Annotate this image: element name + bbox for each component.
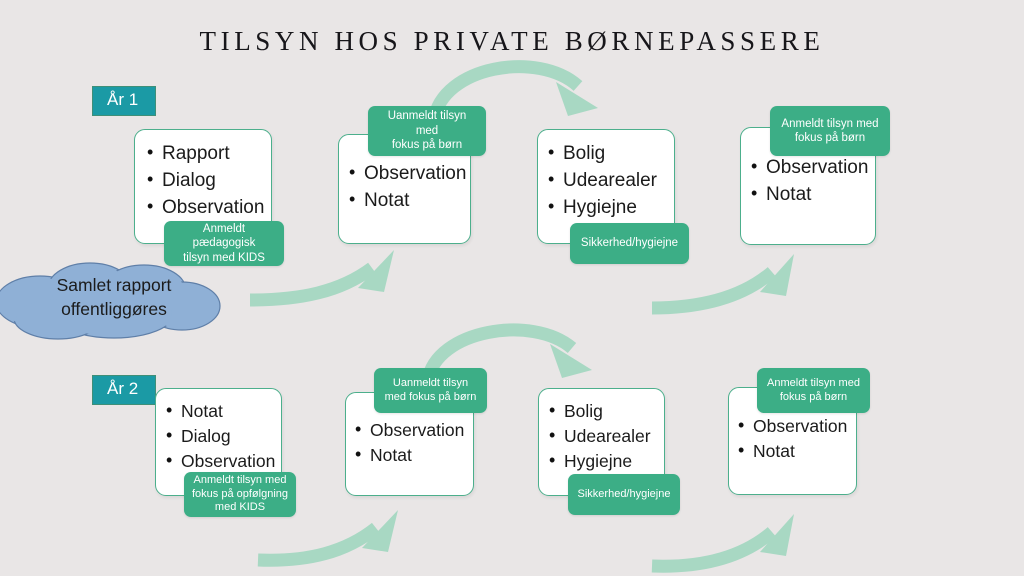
- list-item: Observation: [355, 418, 473, 443]
- list-item: Dialog: [166, 424, 281, 449]
- list-item: Bolig: [549, 399, 664, 424]
- tag-line: Anmeldt tilsyn med: [781, 117, 878, 131]
- arrow-row2-step1-to-step2: [258, 510, 398, 560]
- tag-line: Anmeldt tilsyn med: [767, 377, 860, 391]
- list-item: Bolig: [548, 141, 674, 168]
- list-item: Notat: [349, 188, 470, 215]
- tag-row2-step2: Uanmeldt tilsyn med fokus på børn: [374, 368, 487, 413]
- tag-row1-step2: Uanmeldt tilsyn med fokus på børn: [368, 106, 486, 156]
- slide-canvas: TILSYN HOS PRIVATE BØRNEPASSERE .arw { f…: [0, 0, 1024, 576]
- tag-line: fokus på opfølgning: [192, 488, 288, 502]
- tag-line: fokus på børn: [376, 138, 478, 152]
- tag-line: med KIDS: [192, 501, 288, 515]
- cloud-line-1: Samlet rapport: [4, 274, 224, 298]
- tag-line: Anmeldt pædagogisk: [172, 222, 276, 251]
- list-item: Udearealer: [548, 168, 674, 195]
- tag-row2-step1: Anmeldt tilsyn med fokus på opfølgning m…: [184, 472, 296, 517]
- list-item: Hygiejne: [549, 449, 664, 474]
- arrow-row2-step3-to-step4: [652, 514, 794, 566]
- page-title: TILSYN HOS PRIVATE BØRNEPASSERE: [0, 26, 1024, 57]
- list-item: Notat: [751, 182, 875, 209]
- list-item: Observation: [349, 161, 470, 188]
- list-item: Dialog: [147, 168, 271, 195]
- tag-line: Uanmeldt tilsyn: [385, 377, 477, 391]
- tag-row1-step3: Sikkerhed/hygiejne: [570, 223, 689, 264]
- list-item: Udearealer: [549, 424, 664, 449]
- tag-row1-step1: Anmeldt pædagogisk tilsyn med KIDS: [164, 221, 284, 266]
- tag-line: fokus på børn: [767, 391, 860, 405]
- tag-line: Anmeldt tilsyn med: [192, 474, 288, 488]
- cloud-shape: Samlet rapport offentliggøres: [0, 256, 224, 342]
- tag-row2-step3: Sikkerhed/hygiejne: [568, 474, 680, 515]
- list-item: Observation: [147, 195, 271, 222]
- tag-row1-step4: Anmeldt tilsyn med fokus på børn: [770, 106, 890, 156]
- tag-line: Sikkerhed/hygiejne: [578, 488, 671, 502]
- list-item: Notat: [166, 399, 281, 424]
- list-item: Hygiejne: [548, 195, 674, 222]
- list-item: Rapport: [147, 141, 271, 168]
- list-item: Notat: [738, 439, 856, 464]
- cloud-text: Samlet rapport offentliggøres: [0, 274, 224, 321]
- tag-row2-step4: Anmeldt tilsyn med fokus på børn: [757, 368, 870, 413]
- year-badge-2: År 2: [92, 375, 156, 405]
- list-item: Observation: [751, 155, 875, 182]
- tag-line: tilsyn med KIDS: [172, 251, 276, 265]
- tag-line: med fokus på børn: [385, 391, 477, 405]
- list-item: Observation: [166, 449, 281, 474]
- list-item: Observation: [738, 414, 856, 439]
- tag-line: Sikkerhed/hygiejne: [581, 236, 678, 250]
- tag-line: Uanmeldt tilsyn med: [376, 109, 478, 138]
- year-badge-1: År 1: [92, 86, 156, 116]
- cloud-line-2: offentliggøres: [4, 298, 224, 322]
- tag-line: fokus på børn: [781, 131, 878, 145]
- list-item: Notat: [355, 443, 473, 468]
